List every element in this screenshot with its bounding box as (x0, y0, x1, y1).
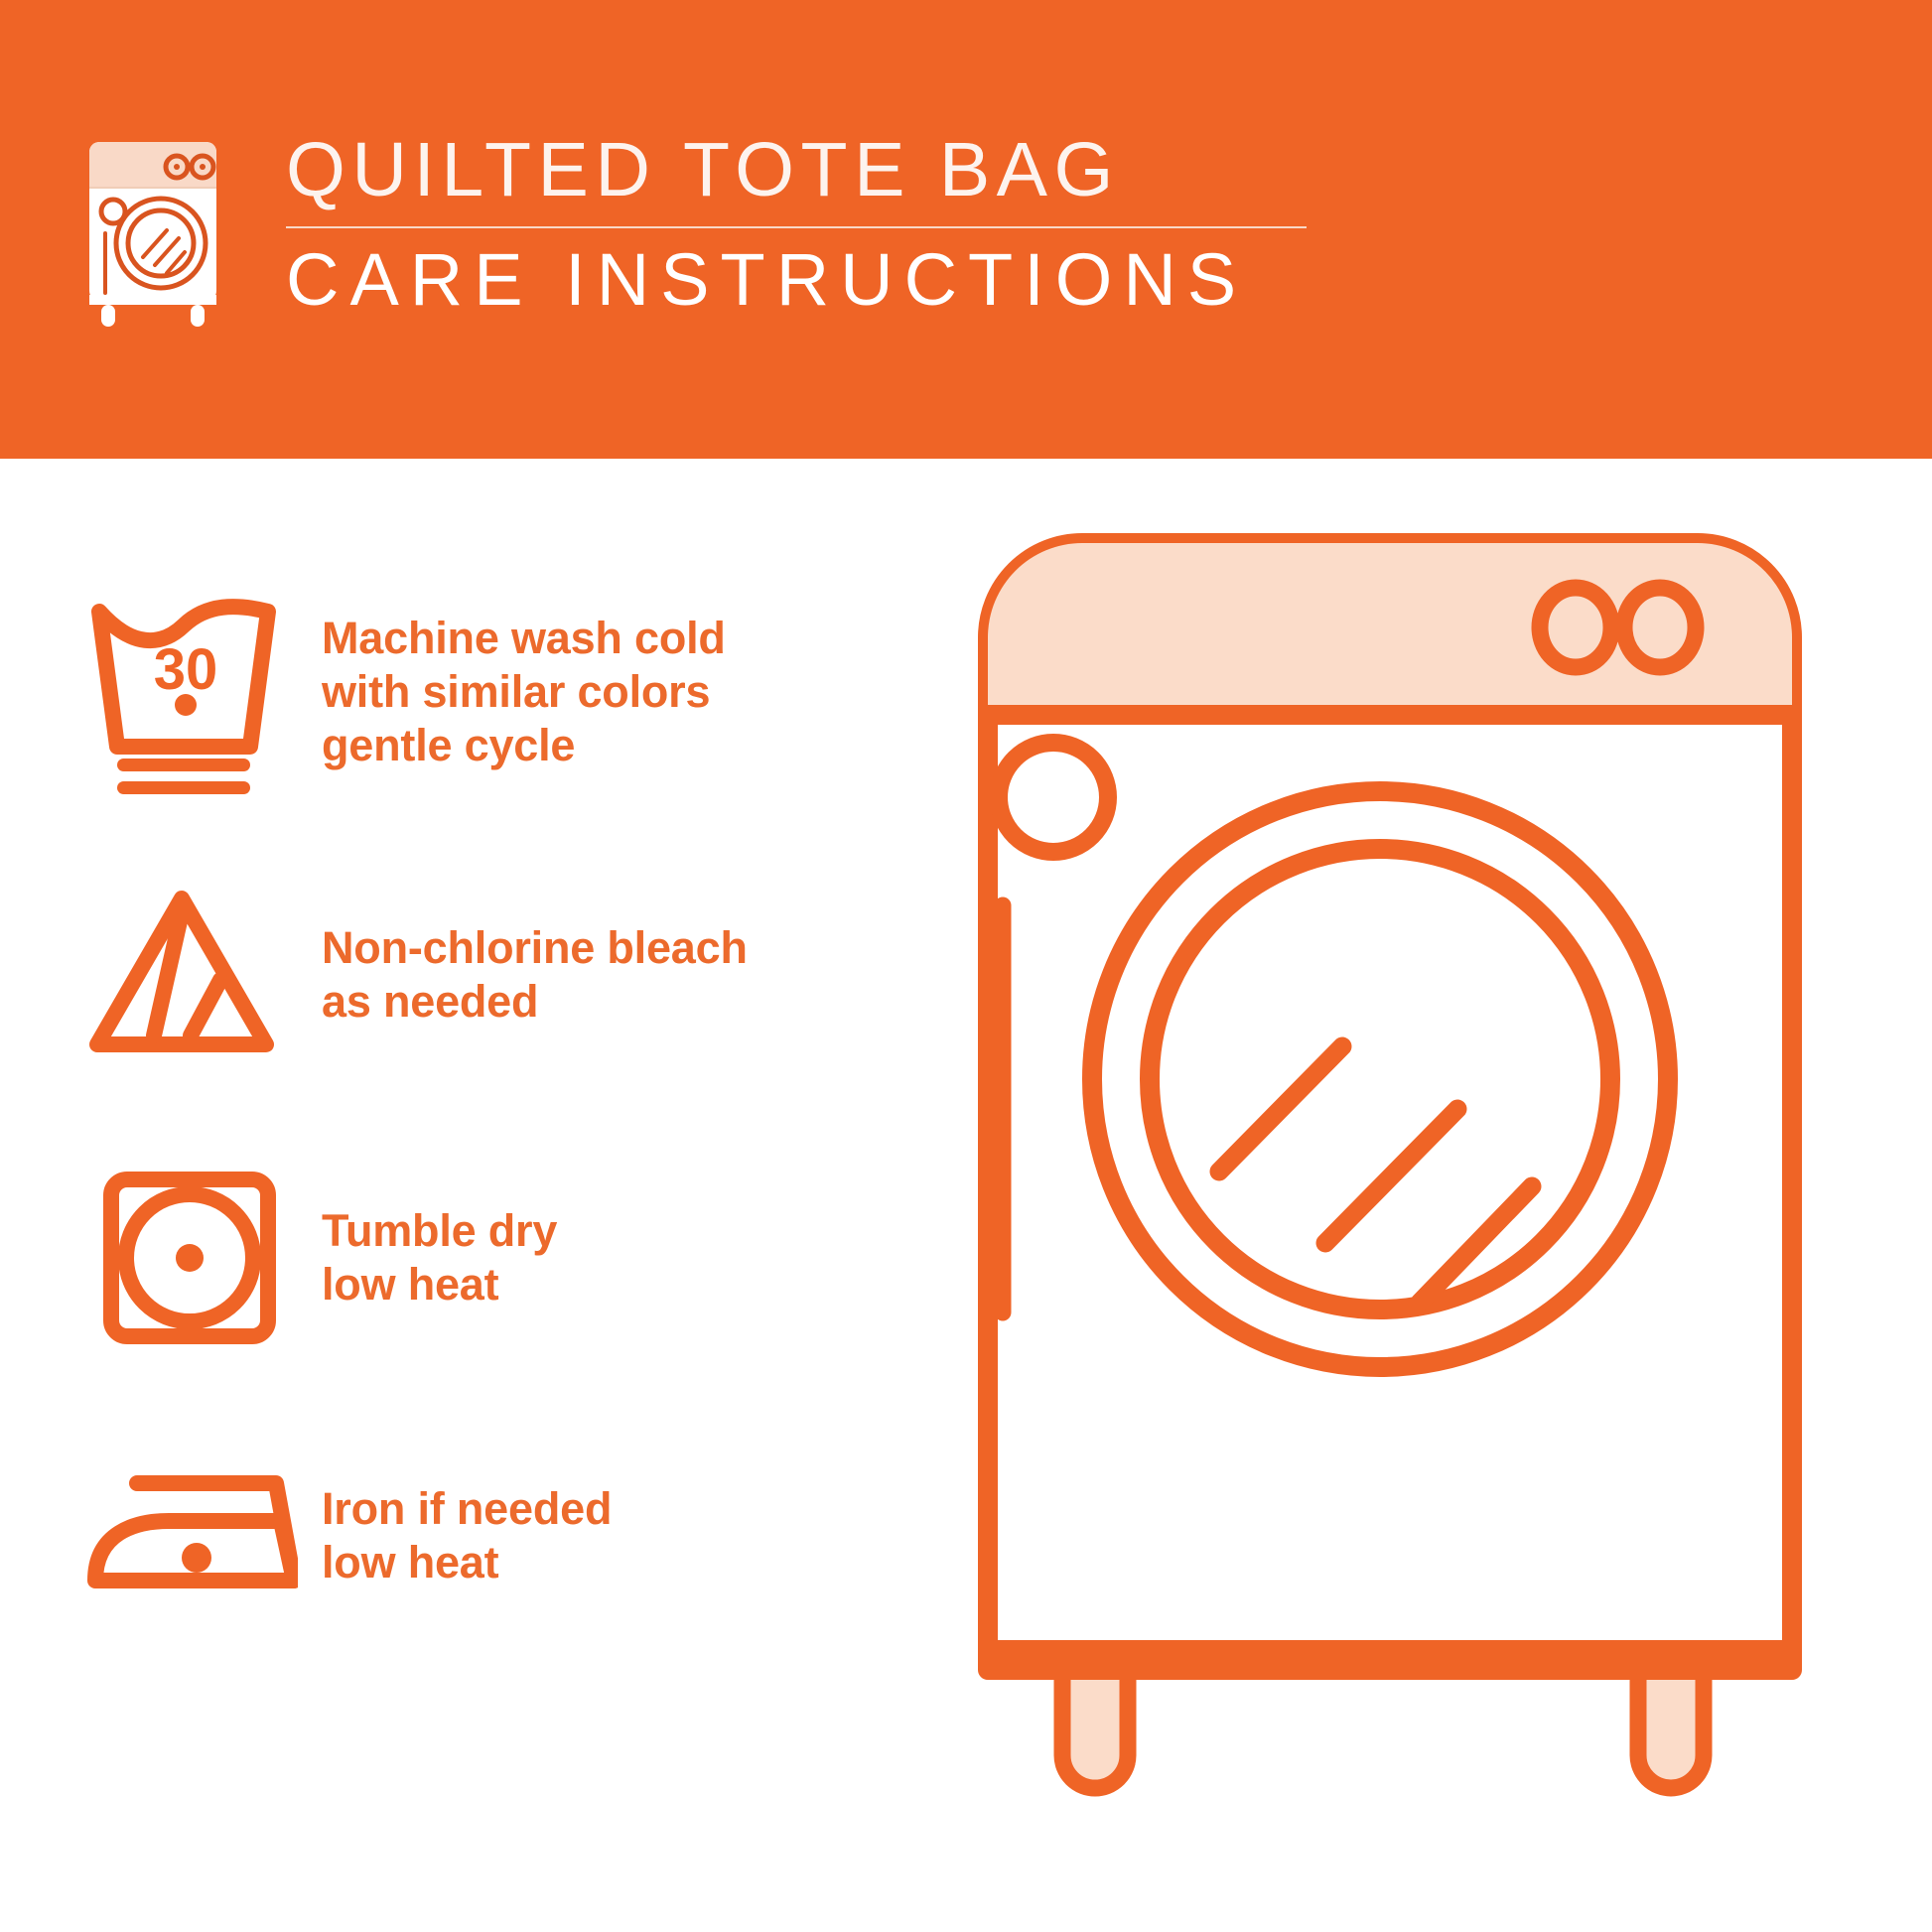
care-label-line-1: Tumble dry (322, 1204, 557, 1258)
care-item-tumble-dry: Tumble dry low heat (0, 1134, 953, 1382)
care-label-line-2: low heat (322, 1258, 557, 1311)
knob-left (1540, 588, 1611, 667)
care-label-line-2: low heat (322, 1536, 612, 1589)
wash-temperature-value: 30 (154, 637, 218, 702)
front-load-washing-machine-illustration (953, 459, 1932, 1932)
iron-low-heat-icon (69, 1422, 298, 1650)
page-subtitle: CARE INSTRUCTIONS (286, 238, 1338, 322)
care-label-line-2: with similar colors (322, 665, 726, 719)
care-item-iron: Iron if needed low heat (0, 1412, 953, 1660)
leg-right (1638, 1670, 1704, 1788)
non-chlorine-bleach-triangle-icon (69, 861, 298, 1089)
care-item-machine-wash: 30 Machine wash cold with similar colors… (0, 568, 953, 816)
knob-right (1624, 588, 1696, 667)
care-item-label: Iron if needed low heat (322, 1482, 612, 1589)
washer-base (988, 1640, 1792, 1674)
care-label-line-3: gentle cycle (322, 719, 726, 772)
care-label-line-2: as needed (322, 975, 748, 1029)
care-instructions-list: 30 Machine wash cold with similar colors… (0, 459, 953, 1932)
wash-tub-30-gentle-icon: 30 (69, 578, 298, 806)
care-label-line-1: Machine wash cold (322, 612, 726, 665)
care-label-line-1: Non-chlorine bleach (322, 921, 748, 975)
tumble-dry-low-icon (69, 1144, 298, 1372)
care-label-line-1: Iron if needed (322, 1482, 612, 1536)
care-item-bleach: Non-chlorine bleach as needed (0, 851, 953, 1099)
title-divider (286, 226, 1307, 228)
care-instructions-infographic: QUILTED TOTE BAG CARE INSTRUCTIONS 30 (0, 0, 1932, 1932)
leg-left (1062, 1670, 1128, 1788)
washing-machine-icon (81, 134, 230, 328)
care-item-label: Non-chlorine bleach as needed (322, 921, 748, 1029)
care-item-label: Tumble dry low heat (322, 1204, 557, 1311)
header-banner: QUILTED TOTE BAG CARE INSTRUCTIONS (0, 0, 1932, 459)
page-title: QUILTED TOTE BAG (286, 127, 1338, 212)
header-text-block: QUILTED TOTE BAG CARE INSTRUCTIONS (286, 127, 1338, 322)
care-item-label: Machine wash cold with similar colors ge… (322, 612, 726, 772)
